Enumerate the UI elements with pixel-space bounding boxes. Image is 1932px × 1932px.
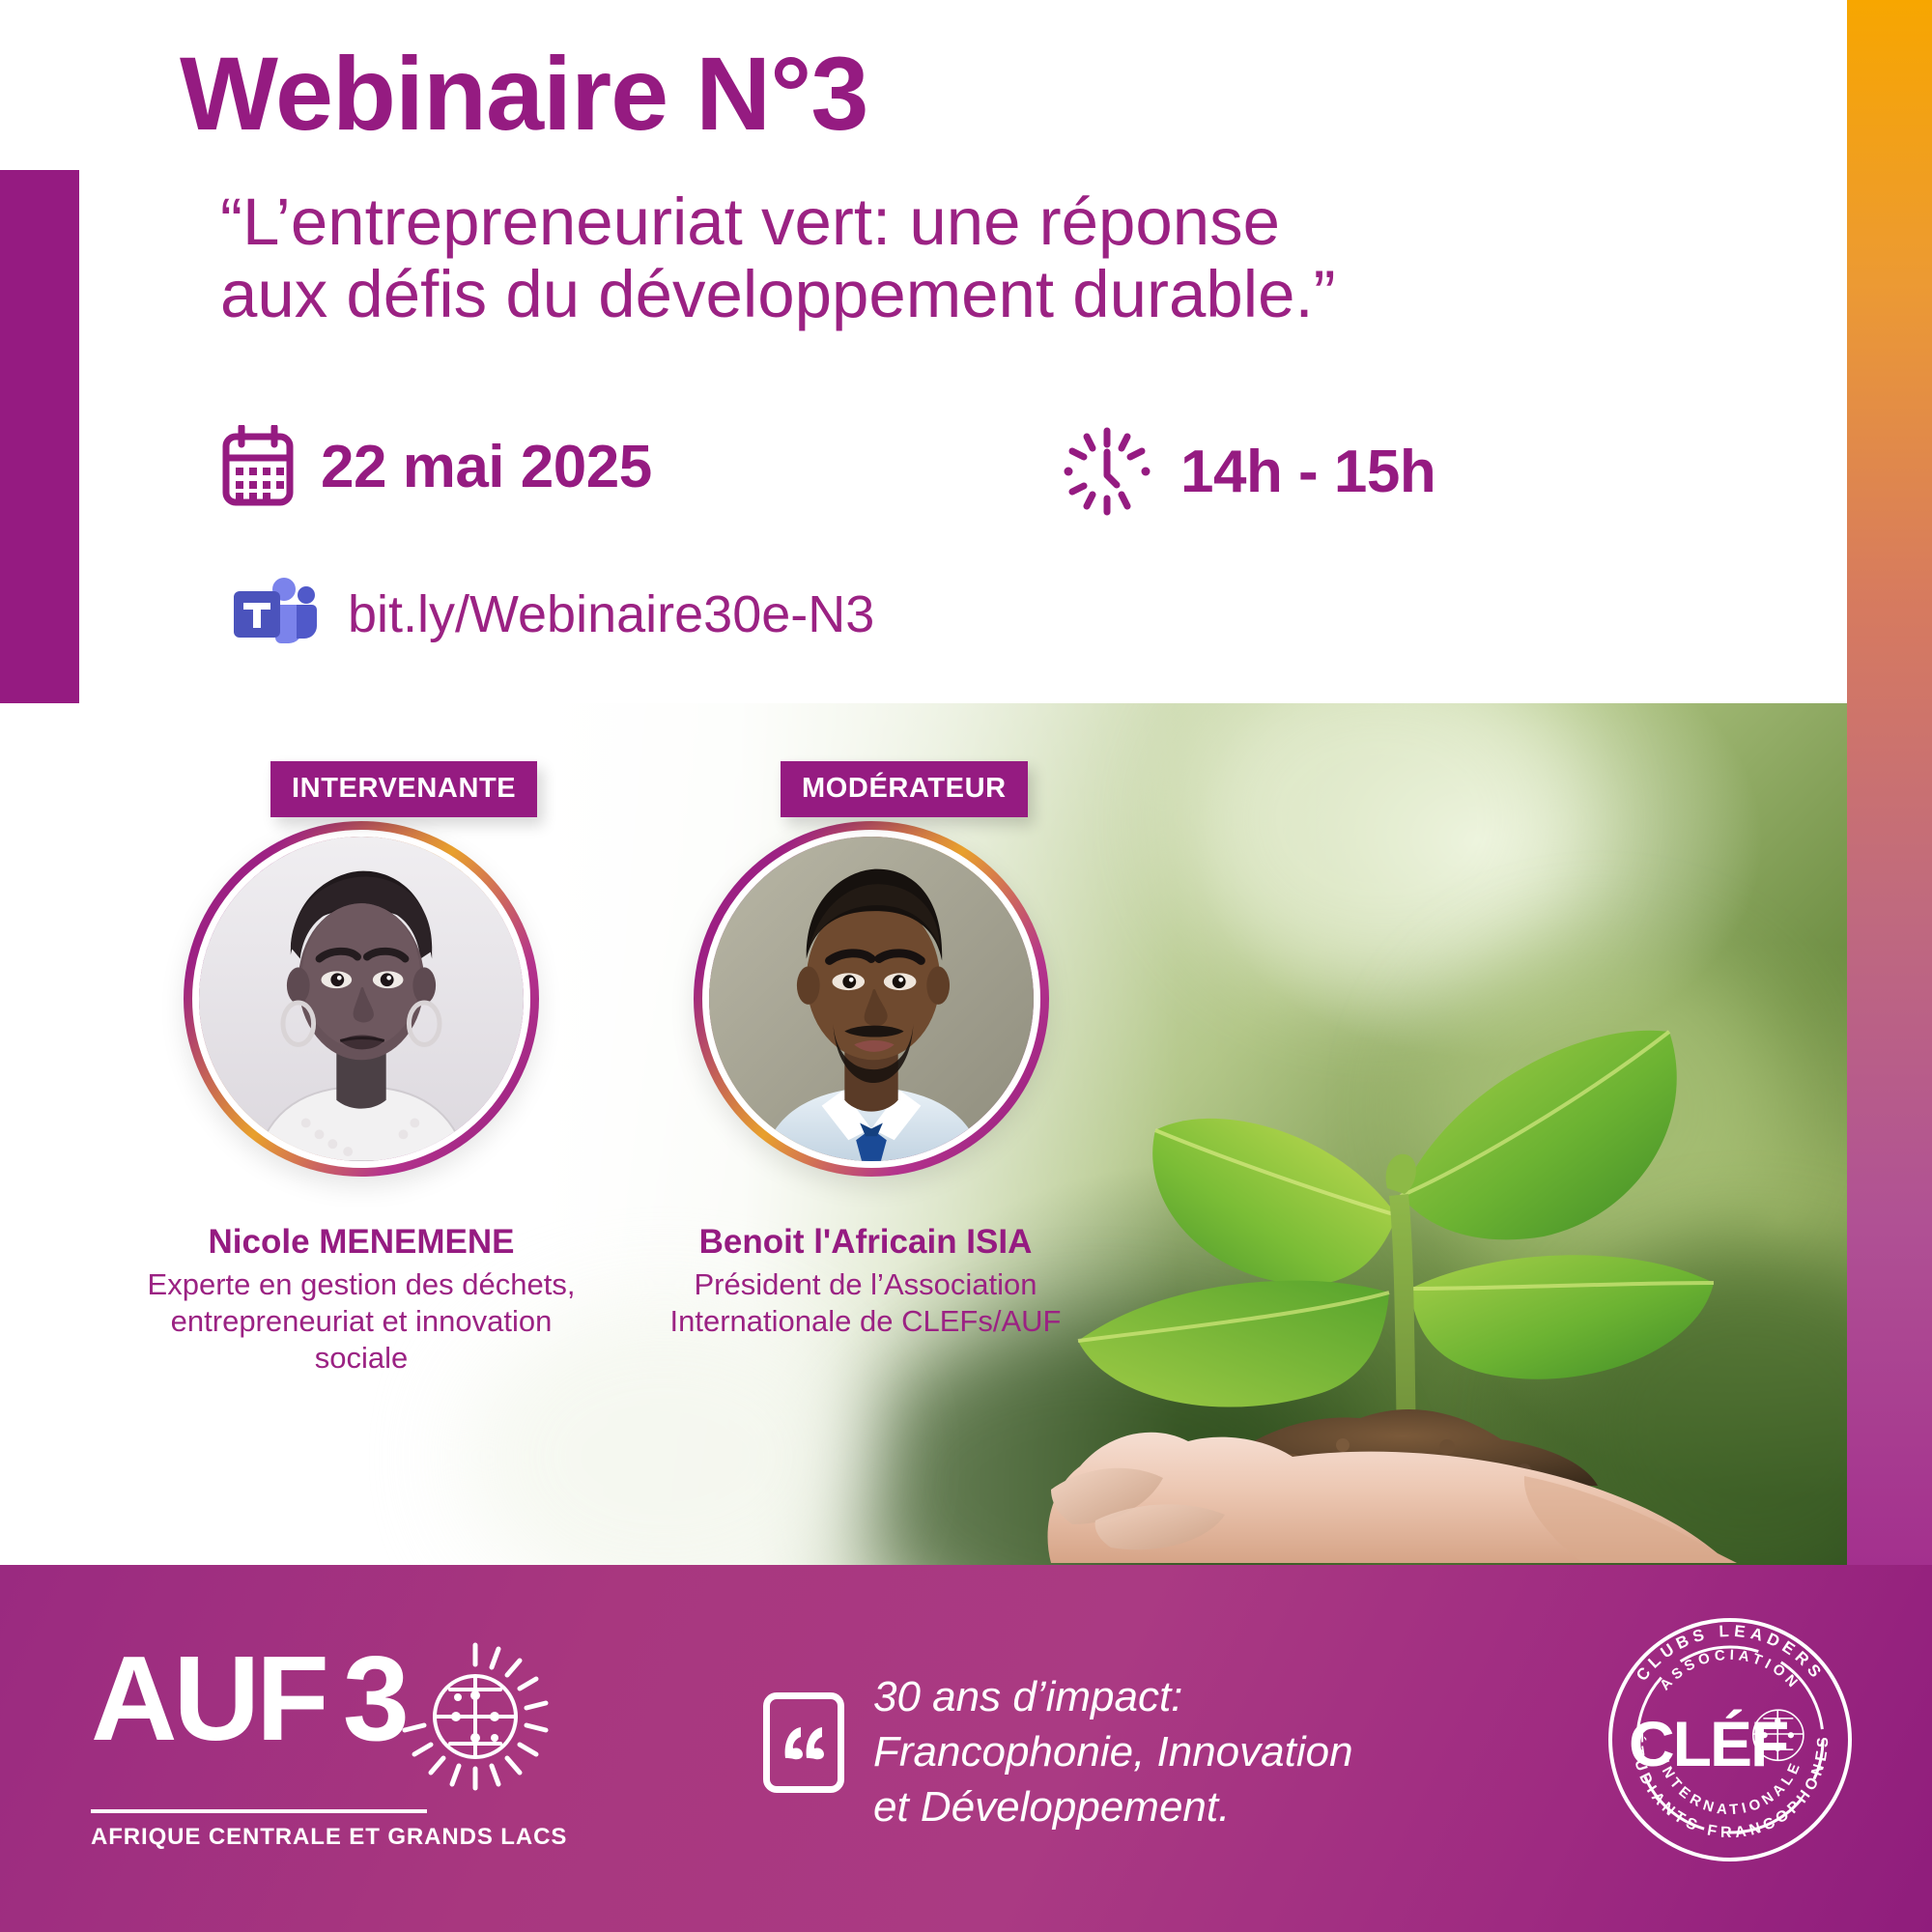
speaker-1-role-line-1: Experte en gestion des déchets, — [134, 1266, 588, 1303]
date-text: 22 mai 2025 — [321, 433, 652, 501]
speaker-2-name: Benoit l'Africain ISIA — [639, 1222, 1093, 1262]
portrait-benoit-isia — [709, 837, 1034, 1161]
clock-icon — [1061, 425, 1153, 518]
badge-intervenante: INTERVENANTE — [270, 761, 537, 817]
speaker-2-role-line-2: Internationale de CLEFs/AUF — [639, 1303, 1093, 1340]
tagline-line-1: 30 ans d’impact: — [873, 1669, 1353, 1724]
subtitle-line-2: aux défis du développement durable.” — [220, 258, 1650, 330]
date-row: 22 mai 2025 — [220, 425, 652, 508]
speaker-1-role-line-2: entrepreneuriat et innovation — [134, 1303, 588, 1340]
left-purple-accent-bar — [0, 170, 79, 703]
badge-moderateur: MODÉRATEUR — [781, 761, 1028, 817]
calendar-icon — [220, 425, 296, 508]
page-title: Webinaire N°3 — [180, 39, 1629, 148]
tagline-line-3: et Développement. — [873, 1779, 1353, 1834]
avatar-speaker-1 — [184, 821, 539, 1177]
speaker-2-role-line-1: Président de l’Association — [639, 1266, 1093, 1303]
speaker-1-role-line-3: sociale — [134, 1340, 588, 1377]
footer-tagline: 30 ans d’impact: Francophonie, Innovatio… — [763, 1669, 1353, 1835]
quote-icon — [763, 1692, 844, 1793]
auf-region-label: AFRIQUE CENTRALE ET GRANDS LACS — [91, 1824, 567, 1851]
time-row: 14h - 15h — [1061, 425, 1435, 518]
caption-speaker-1: Nicole MENEMENE Experte en gestion des d… — [134, 1222, 588, 1377]
auf-wordmark: AUF — [91, 1647, 326, 1752]
time-text: 14h - 15h — [1180, 438, 1435, 506]
seedling-illustration — [906, 713, 1776, 1563]
meeting-link-row[interactable]: bit.ly/Webinaire30e-N3 — [224, 576, 874, 653]
tagline-line-2: Francophonie, Innovation — [873, 1724, 1353, 1779]
portrait-nicole-menemene — [199, 837, 524, 1161]
auf-divider — [91, 1809, 427, 1813]
webinar-poster: Webinaire N°3 “L’entrepreneuriat vert: u… — [0, 0, 1932, 1932]
microsoft-teams-icon — [224, 576, 317, 653]
tagline-text: 30 ans d’impact: Francophonie, Innovatio… — [873, 1669, 1353, 1835]
right-gradient-strip — [1847, 0, 1932, 1565]
auf-logo: AUF 3 — [91, 1647, 567, 1851]
auf-anniversary-number: 3 — [343, 1647, 404, 1752]
caption-speaker-2: Benoit l'Africain ISIA Président de l’As… — [639, 1222, 1093, 1340]
page-subtitle: “L’entrepreneuriat vert: une réponse aux… — [220, 185, 1650, 330]
speaker-1-name: Nicole MENEMENE — [134, 1222, 588, 1262]
auf-globe-burst-icon — [398, 1639, 553, 1794]
meeting-link-text[interactable]: bit.ly/Webinaire30e-N3 — [348, 584, 874, 644]
avatar-speaker-2 — [694, 821, 1049, 1177]
subtitle-line-1: “L’entrepreneuriat vert: une réponse — [220, 185, 1650, 258]
clef-logo: CLUBS LEADERS ASSOCIATION INTERNATIONALE… — [1602, 1611, 1859, 1868]
